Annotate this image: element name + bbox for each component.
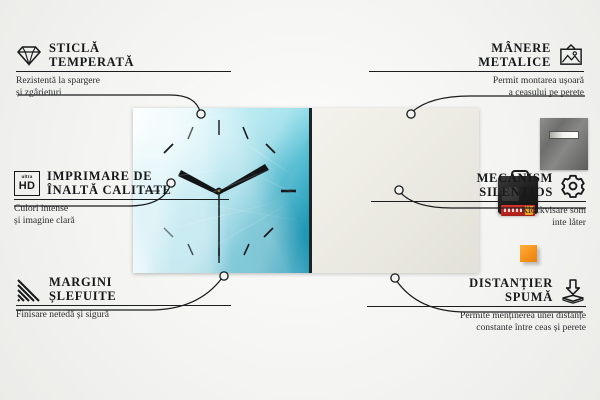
- foam-spacer-pad: [520, 245, 537, 262]
- callout-divider: [16, 71, 231, 72]
- callout-subtitle: Rezistentă la spargere și zgârieturi: [16, 75, 231, 98]
- hanger-plate-slot: [549, 131, 579, 139]
- callout-title: MARGINI ȘLEFUITE: [49, 276, 116, 303]
- callout-title: STICLĂ TEMPERATĂ: [49, 42, 134, 69]
- callout-tempered-glass: STICLĂ TEMPERATĂ Rezistentă la spargere …: [16, 42, 231, 98]
- callout-header-tempered-glass: STICLĂ TEMPERATĂ: [16, 42, 231, 69]
- callout-divider: [14, 199, 229, 200]
- ultra-hd-badge-icon: ultra HD: [14, 171, 40, 197]
- callout-header-silent-mechanism: MECANISM SILENȚIOS: [371, 172, 586, 199]
- callout-title: MECANISM SILENȚIOS: [477, 172, 553, 199]
- callout-title: IMPRIMARE DE ÎNALTĂ CALITATE: [47, 170, 172, 197]
- callout-polished-edges: MARGINI ȘLEFUITE Finisare netedă și sigu…: [16, 276, 231, 321]
- callout-high-quality-print: ultra HD IMPRIMARE DE ÎNALTĂ CALITATE Cu…: [14, 170, 229, 226]
- callout-divider: [367, 306, 586, 307]
- callout-header-foam-spacer: DISTANȚIER SPUMĂ: [367, 277, 586, 304]
- callout-header-metal-handles: MÂNERE METALICE: [369, 42, 584, 69]
- picture-frame-hanger-icon: [558, 43, 584, 69]
- gear-icon: [560, 173, 586, 199]
- callout-subtitle: Permite menținerea unei distanțe constan…: [367, 310, 586, 333]
- callout-subtitle: Permit montarea ușoară a ceasului pe per…: [369, 75, 584, 98]
- ultra-hd-badge-main-label: HD: [19, 181, 36, 192]
- callout-divider: [16, 305, 231, 306]
- metal-hanger-plate: [540, 118, 588, 170]
- callout-metal-handles: MÂNERE METALICE Permit montarea ușoară a…: [369, 42, 584, 98]
- callout-silent-mechanism: MECANISM SILENȚIOS Klockvisare som inte …: [371, 172, 586, 228]
- callout-title: DISTANȚIER SPUMĂ: [469, 277, 553, 304]
- infographic-canvas: STICLĂ TEMPERATĂ Rezistentă la spargere …: [0, 0, 600, 400]
- callout-header-high-quality-print: ultra HD IMPRIMARE DE ÎNALTĂ CALITATE: [14, 170, 229, 197]
- callout-title: MÂNERE METALICE: [478, 42, 551, 69]
- callout-subtitle: Klockvisare som inte låter: [371, 205, 586, 228]
- callout-foam-spacer: DISTANȚIER SPUMĂ Permite menținerea unei…: [367, 277, 586, 333]
- callout-divider: [371, 201, 586, 202]
- callout-subtitle: Finisare netedă și sigură: [16, 309, 231, 321]
- arrow-down-onto-pad-icon: [560, 278, 586, 304]
- diamond-icon: [16, 43, 42, 69]
- callout-divider: [369, 71, 584, 72]
- callout-header-polished-edges: MARGINI ȘLEFUITE: [16, 276, 231, 303]
- callout-subtitle: Culori intense și imagine clară: [14, 203, 229, 226]
- polished-edge-icon: [16, 277, 42, 303]
